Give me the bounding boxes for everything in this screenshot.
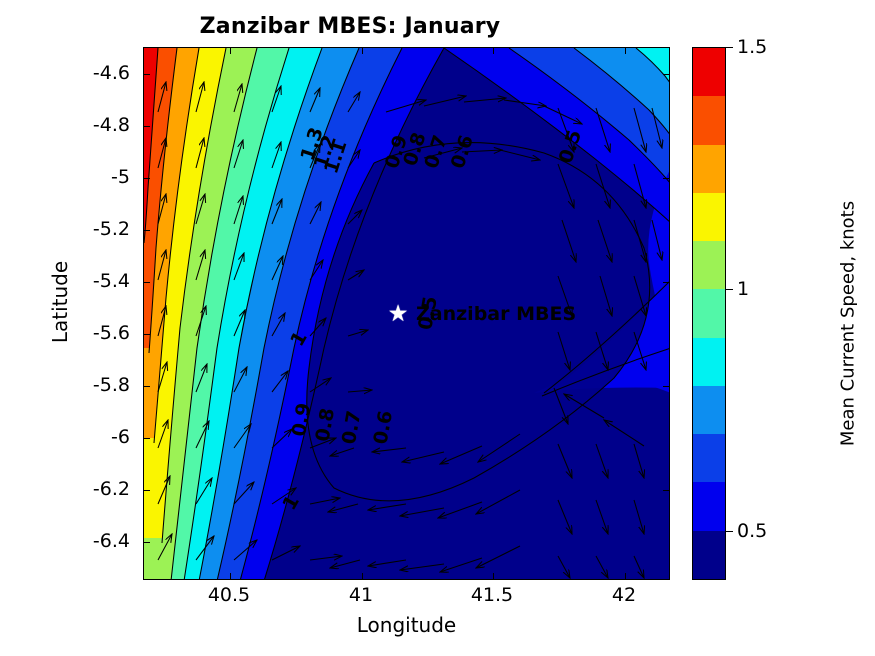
colorbar — [692, 47, 726, 580]
site-marker-label: Zanzibar MBES — [416, 303, 576, 325]
ytick-right-n5_4 — [663, 282, 669, 283]
cbar-tick-0_5 — [726, 531, 733, 532]
ytick-n5_2 — [144, 230, 150, 231]
ytick-label-7: -6 — [10, 426, 130, 448]
colorbar-band-5 — [693, 289, 725, 337]
xtick-label-2: 41.5 — [471, 584, 513, 606]
cbar-tick-1 — [726, 289, 733, 290]
colorbar-band-3 — [693, 193, 725, 241]
x-axis-title: Longitude — [143, 613, 670, 637]
plot-axes: 1.31.21.10.90.80.70.60.50.70.60.50.510.9… — [143, 47, 670, 580]
ytick-n4_6 — [144, 74, 150, 75]
ytick-right-n5 — [663, 178, 669, 179]
y-axis-title: Latitude — [48, 202, 72, 402]
xtick-label-0: 40.5 — [208, 584, 250, 606]
xtick-42 — [625, 573, 626, 579]
cbar-label-0_5: 0.5 — [737, 520, 767, 542]
colorbar-title: Mean Current Speed, knots — [838, 164, 859, 484]
ytick-label-9: -6.4 — [10, 530, 130, 552]
ytick-n5_4 — [144, 282, 150, 283]
ytick-n6_4 — [144, 542, 150, 543]
ytick-right-n6_2 — [663, 490, 669, 491]
xtick-top-41 — [362, 48, 363, 54]
ytick-n5_8 — [144, 386, 150, 387]
ytick-label-8: -6.2 — [10, 478, 130, 500]
ytick-n6 — [144, 438, 150, 439]
xtick-label-1: 41 — [349, 584, 373, 606]
colorbar-band-10 — [693, 531, 725, 579]
ytick-n5 — [144, 178, 150, 179]
ytick-n4_8 — [144, 126, 150, 127]
xtick-top-40_5 — [230, 48, 231, 54]
colorbar-band-0 — [693, 48, 725, 96]
cbar-label-1: 1 — [737, 278, 749, 300]
ytick-right-n4_6 — [663, 74, 669, 75]
colorbar-band-4 — [693, 241, 725, 289]
colorbar-band-1 — [693, 96, 725, 144]
figure-canvas: Zanzibar MBES: January — [0, 0, 875, 656]
ytick-n5_6 — [144, 334, 150, 335]
xtick-top-41_5 — [493, 48, 494, 54]
colorbar-band-8 — [693, 434, 725, 482]
ytick-label-1: -4.8 — [10, 114, 130, 136]
colorbar-band-9 — [693, 482, 725, 530]
xtick-label-3: 42 — [612, 584, 636, 606]
xtick-41 — [362, 573, 363, 579]
colorbar-band-2 — [693, 145, 725, 193]
cbar-label-1_5: 1.5 — [737, 36, 767, 58]
ytick-n6_2 — [144, 490, 150, 491]
colorbar-band-6 — [693, 338, 725, 386]
ytick-label-2: -5 — [10, 166, 130, 188]
xtick-40_5 — [230, 573, 231, 579]
ytick-right-n5_8 — [663, 386, 669, 387]
ytick-label-0: -4.6 — [10, 62, 130, 84]
cbar-tick-1_5 — [726, 47, 733, 48]
page-title: Zanzibar MBES: January — [0, 14, 700, 39]
xtick-top-42 — [625, 48, 626, 54]
colorbar-band-7 — [693, 386, 725, 434]
xtick-41_5 — [493, 573, 494, 579]
